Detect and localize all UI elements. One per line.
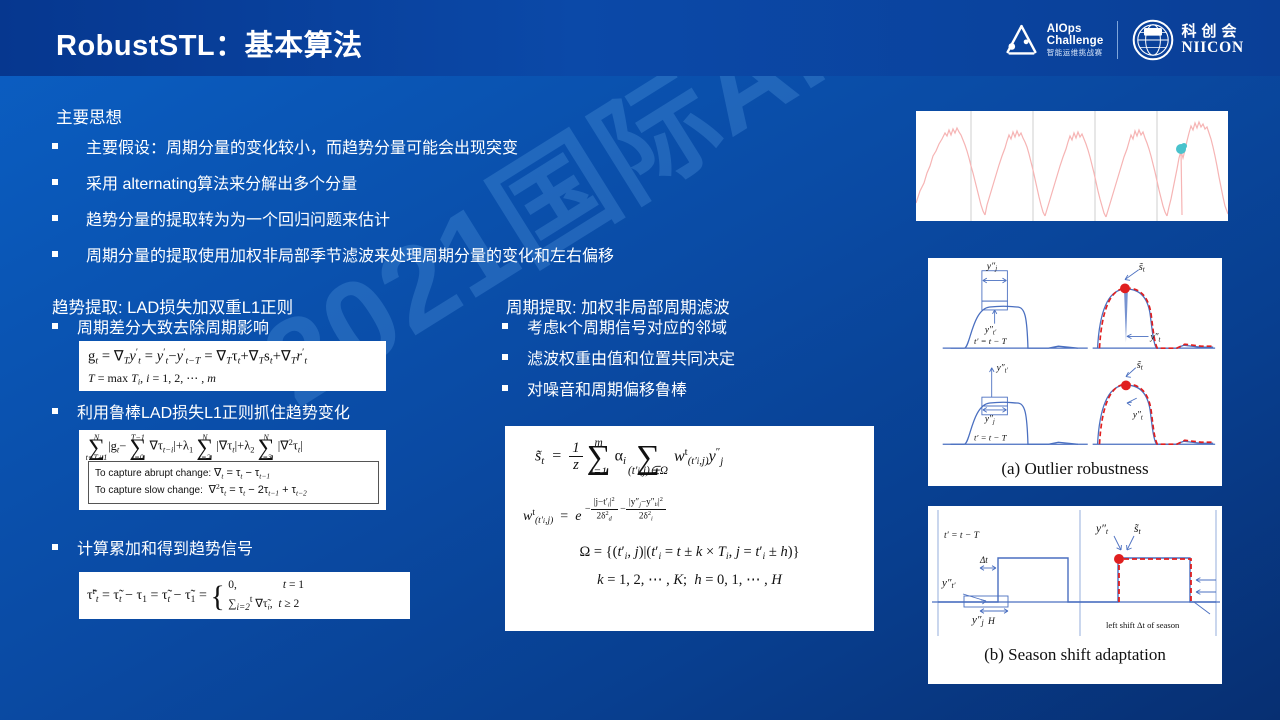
svg-text:y″t: y″t — [1149, 332, 1161, 343]
figure-season-shift: Δt H y″t′ y″j t′ = t − T y″t s̃t — [928, 506, 1222, 684]
list-item-label: 考虑k个周期信号对应的邻域 — [527, 314, 727, 338]
summation-symbol: ∑T−1i=0 — [129, 440, 146, 457]
bullet-marker — [502, 323, 508, 329]
list-item-label: 采用 alternating算法来分解出多个分量 — [86, 170, 357, 194]
list-item-label: 滤波权重由值和位置共同决定 — [527, 345, 735, 369]
formula-lad-objective: ∑Nt=T+1 |gt− ∑T−1i=0 ∇τt−i|+λ1 ∑Nt=2 |∇τ… — [79, 430, 386, 510]
svg-text:s̃t: s̃t — [1139, 262, 1146, 274]
fraction: |j−t′i|22δ2d — [591, 496, 618, 522]
list-item: 趋势分量的提取转为为一个回归问题来估计 — [52, 206, 614, 230]
bullet-marker — [52, 179, 58, 185]
svg-text:y″j: y″j — [986, 261, 997, 273]
formula-line: wt(t′i,j) = e −|j−t′i|22δ2d −|y″j−y″ti|2… — [523, 496, 858, 526]
figure-outlier-robustness: y″j y″t′ t′ = t − T s̃t y″t — [928, 258, 1222, 486]
globe-icon — [1132, 19, 1174, 61]
formula-line: gt = ∇Ty′t = y′t−y′t−T = ∇Tτt+∇Tst+∇Tr′t — [88, 347, 378, 367]
svg-text:s̃t: s̃t — [1137, 360, 1144, 372]
list-item-label: 利用鲁棒LAD损失L1正则抓住趋势变化 — [77, 399, 350, 423]
list-item: 计算累加和得到趋势信号 — [52, 535, 253, 559]
list-item-label: 计算累加和得到趋势信号 — [77, 535, 253, 559]
niicon-logo: 科创会 NIICON — [1132, 19, 1244, 61]
svg-text:y″t: y″t — [1132, 411, 1144, 422]
outlier-point — [1120, 283, 1130, 293]
bullet-marker — [52, 251, 58, 257]
list-item: 采用 alternating算法来分解出多个分量 — [52, 170, 614, 194]
niicon-logo-cn: 科创会 — [1181, 24, 1244, 40]
niicon-logo-en: NIICON — [1181, 40, 1244, 56]
shift-note: left shift Δt of season — [1106, 620, 1180, 630]
svg-text:y″t′: y″t′ — [996, 364, 1009, 375]
list-item: 对噪音和周期偏移鲁棒 — [502, 376, 735, 400]
formula-line: ∑Nt=T+1 |gt− ∑T−1i=0 ∇τt−i|+λ1 ∑Nt=2 |∇τ… — [88, 438, 379, 457]
svg-text:y″t′: y″t′ — [941, 577, 956, 590]
season-bullet-list: 考虑k个周期信号对应的邻域 滤波权重由值和位置共同决定 对噪音和周期偏移鲁棒 — [502, 314, 735, 400]
aiops-logo-line3: 智能运维挑战赛 — [1047, 49, 1104, 57]
main-heading: 主要思想 — [56, 104, 122, 128]
bullet-marker — [52, 215, 58, 221]
list-item-label: 对噪音和周期偏移鲁棒 — [527, 376, 687, 400]
formula-line: T = max Ti, i = 1, 2, ⋯ , m — [88, 371, 378, 387]
aiops-logo-line2: Challenge — [1047, 36, 1104, 48]
formula-trend-difference: gt = ∇Ty′t = y′t−y′t−T = ∇Tτt+∇Tst+∇Tr′t… — [79, 341, 386, 391]
list-item-label: 周期分量的提取使用加权非局部季节滤波来处理周期分量的变化和左右偏移 — [86, 242, 614, 266]
page-title: RobustSTL：基本算法 — [56, 22, 363, 64]
change-capture-note: To capture abrupt change: ∇t = τt − τt−1… — [88, 461, 379, 504]
svg-text:y″j: y″j — [971, 614, 984, 627]
bullet-marker — [52, 544, 58, 550]
trend-bullet-1: 周期差分大致去除周期影响 — [52, 314, 269, 338]
summation-symbol: ∑Nt=2 — [196, 440, 213, 457]
slide-header: RobustSTL：基本算法 AIOps Challenge 智能运维挑战赛 — [0, 0, 1280, 76]
trend-bullet-3: 计算累加和得到趋势信号 — [52, 535, 253, 559]
bullet-marker — [52, 143, 58, 149]
note-line-abrupt: To capture abrupt change: ∇t = τt − τt−1 — [95, 465, 372, 482]
formula-line: k = 1, 2, ⋯ , K; h = 0, 1, ⋯ , H — [521, 572, 858, 589]
fraction: 1z — [569, 440, 582, 474]
list-item: 滤波权重由值和位置共同决定 — [502, 345, 735, 369]
summation-symbol: ∑Nt=T+1 — [88, 440, 105, 457]
logo-divider — [1117, 21, 1118, 59]
list-item: 利用鲁棒LAD损失L1正则抓住趋势变化 — [52, 399, 350, 423]
season-point — [1121, 381, 1131, 391]
aiops-challenge-logo: AIOps Challenge 智能运维挑战赛 — [1003, 23, 1104, 57]
formula-trend-accumulation: τ̃rt = τ̃t − τ1 = τ̃t − τ̃1 = { 0,t = 1 … — [79, 572, 410, 619]
bullet-marker — [502, 354, 508, 360]
figure-b-caption: (b) Season shift adaptation — [928, 645, 1222, 665]
formula-line: s̃t = 1z ∑mi=1 αi ∑(t′i,j)∈Ω wt(t′i,j)y″… — [535, 440, 858, 474]
note-label-abrupt: To capture abrupt change: — [95, 468, 211, 479]
summation-symbol: ∑(t′i,j)∈Ω — [636, 446, 660, 470]
formula-seasonal-filter: s̃t = 1z ∑mi=1 αi ∑(t′i,j)∈Ω wt(t′i,j)y″… — [505, 426, 874, 631]
note-label-slow: To capture slow change: — [95, 485, 203, 496]
svg-text:t′ = t − T: t′ = t − T — [974, 336, 1008, 346]
figure-a-caption: (a) Outlier robustness — [928, 459, 1222, 479]
shift-point — [1114, 554, 1124, 564]
svg-text:y″t′: y″t′ — [984, 325, 997, 336]
seasonal-signal-chart — [916, 111, 1228, 221]
svg-text:s̃t: s̃t — [1134, 523, 1141, 536]
main-bullet-list: 主要假设：周期分量的变化较小，而趋势分量可能会出现突变 采用 alternati… — [52, 134, 614, 266]
list-item-label: 周期差分大致去除周期影响 — [77, 314, 269, 338]
bullet-marker — [52, 408, 58, 414]
fraction: |y″j−y″ti|22δ2i — [626, 496, 666, 523]
svg-text:H: H — [987, 617, 996, 627]
niicon-logo-text: 科创会 NIICON — [1181, 24, 1244, 56]
formula-line: τ̃rt = τ̃t − τ1 = τ̃t − τ̃1 = { 0,t = 1 … — [87, 578, 304, 614]
list-item: 主要假设：周期分量的变化较小，而趋势分量可能会出现突变 — [52, 134, 614, 158]
trend-bullet-2: 利用鲁棒LAD损失L1正则抓住趋势变化 — [52, 399, 350, 423]
svg-text:Δt: Δt — [979, 555, 988, 565]
slide-content: 主要思想 主要假设：周期分量的变化较小，而趋势分量可能会出现突变 采用 alte… — [0, 0, 1280, 720]
list-item: 周期差分大致去除周期影响 — [52, 314, 269, 338]
aiops-triangle-icon — [1003, 23, 1040, 57]
formula-line: Ω = {(t′i, j)|(t′i = t ± k × Ti, j = t′i… — [521, 544, 858, 562]
bullet-marker — [52, 323, 58, 329]
note-line-slow: To capture slow change: ∇2τt = τt − 2τt−… — [95, 481, 372, 499]
summation-symbol: ∑mi=1 — [587, 446, 611, 470]
list-item-label: 主要假设：周期分量的变化较小，而趋势分量可能会出现突变 — [86, 134, 518, 158]
season-shift-diagram: Δt H y″t′ y″j t′ = t − T y″t s̃t — [928, 506, 1222, 642]
list-item: 考虑k个周期信号对应的邻域 — [502, 314, 735, 338]
outlier-robustness-diagram: y″j y″t′ t′ = t − T s̃t y″t — [928, 258, 1222, 454]
list-item-label: 趋势分量的提取转为为一个回归问题来估计 — [86, 206, 390, 230]
aiops-logo-line1: AIOps — [1047, 24, 1104, 36]
logo-group: AIOps Challenge 智能运维挑战赛 科创会 — [1003, 17, 1244, 63]
summation-symbol: ∑Nt=3 — [258, 440, 275, 457]
svg-text:y″j: y″j — [984, 415, 995, 426]
bullet-marker — [502, 385, 508, 391]
aiops-logo-text: AIOps Challenge 智能运维挑战赛 — [1047, 24, 1104, 57]
svg-text:t′ = t − T: t′ = t − T — [944, 531, 980, 541]
figure-seasonal-signal — [916, 111, 1228, 221]
svg-text:y″t: y″t — [1095, 523, 1109, 536]
list-item: 周期分量的提取使用加权非局部季节滤波来处理周期分量的变化和左右偏移 — [52, 242, 614, 266]
svg-text:t′ = t − T: t′ = t − T — [974, 432, 1008, 442]
